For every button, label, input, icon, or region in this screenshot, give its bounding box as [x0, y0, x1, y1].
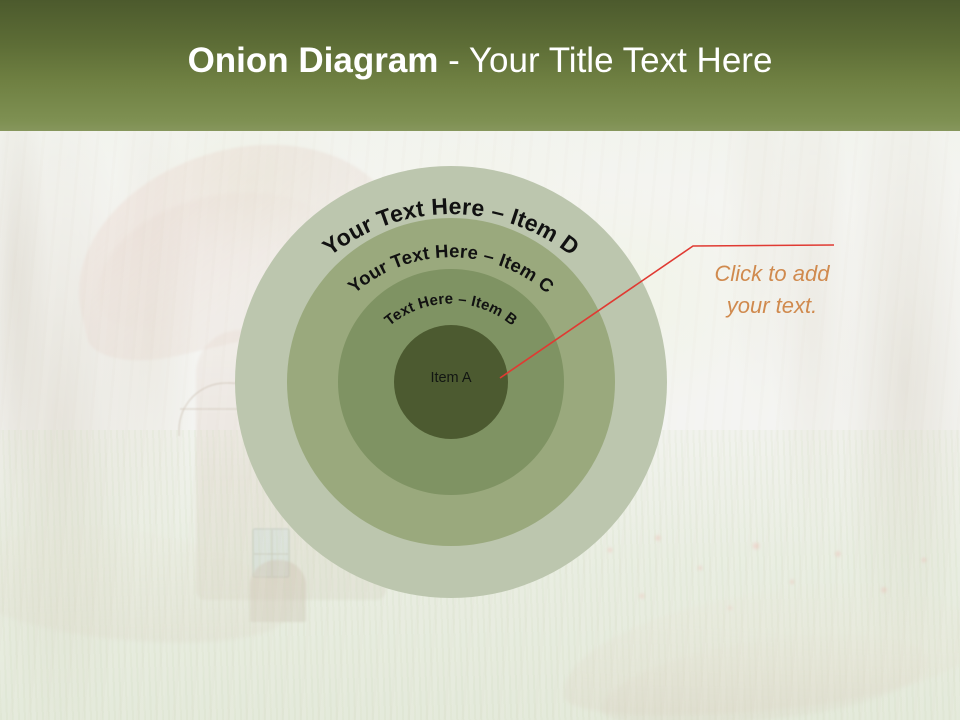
callout-placeholder-text[interactable]: Click to add your text.	[672, 258, 872, 322]
slide-canvas: Onion Diagram - Your Title Text Here You…	[0, 0, 960, 720]
callout-leader-line	[0, 0, 960, 720]
callout-text-line-2: your text.	[672, 290, 872, 322]
callout-text-line-1: Click to add	[672, 258, 872, 290]
